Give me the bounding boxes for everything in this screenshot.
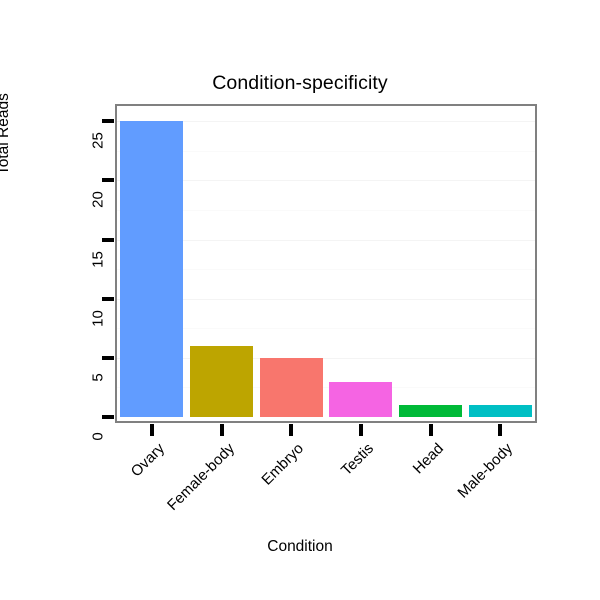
x-tick-mark <box>498 424 502 436</box>
y-tick-label: 25 <box>90 121 107 161</box>
y-tick-label: 10 <box>90 298 107 338</box>
bar[interactable] <box>399 405 462 417</box>
plot-panel-inner <box>117 106 535 421</box>
bar-chart-figure: Condition-specificity Total Reads 051015… <box>0 0 600 600</box>
y-axis-title: Total Reads <box>0 93 13 175</box>
bars-group <box>117 106 535 421</box>
y-tick-label: 15 <box>90 239 107 279</box>
y-tick-label: 20 <box>90 180 107 220</box>
x-axis-title: Condition <box>0 538 600 556</box>
page-title: Condition-specificity <box>0 72 600 95</box>
bar[interactable] <box>469 405 532 417</box>
x-tick-mark <box>220 424 224 436</box>
bar[interactable] <box>329 382 392 417</box>
y-tick-label: 0 <box>90 417 107 457</box>
bar[interactable] <box>260 358 323 417</box>
bar[interactable] <box>190 346 253 417</box>
x-tick-mark <box>429 424 433 436</box>
x-tick-mark <box>289 424 293 436</box>
y-tick-label: 5 <box>90 357 107 397</box>
bar[interactable] <box>120 121 183 417</box>
x-tick-mark <box>150 424 154 436</box>
plot-panel <box>115 104 537 423</box>
x-tick-mark <box>359 424 363 436</box>
